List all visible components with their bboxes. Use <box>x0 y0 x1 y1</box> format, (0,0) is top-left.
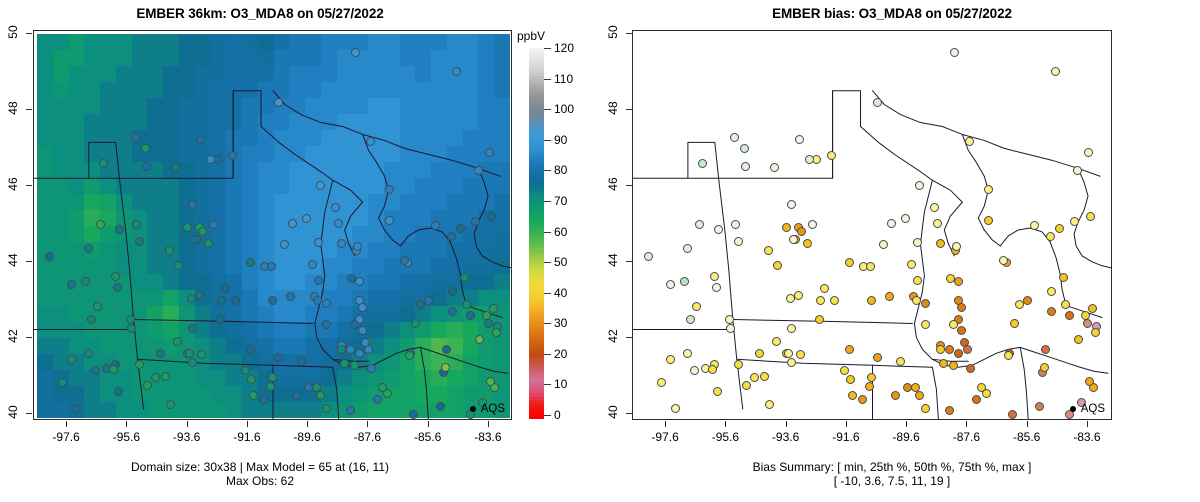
station-marker[interactable] <box>364 345 373 354</box>
station-marker[interactable] <box>249 391 258 400</box>
station-marker[interactable] <box>845 258 854 267</box>
state-boundaries <box>633 31 1111 419</box>
y-tick-label: 40 <box>606 401 620 423</box>
aqs-dot-icon <box>470 406 476 412</box>
panel-title: EMBER 36km: O3_MDA8 on 05/27/2022 <box>0 6 520 21</box>
station-marker[interactable] <box>972 395 981 404</box>
station-marker[interactable] <box>734 237 743 246</box>
station-marker[interactable] <box>787 200 796 209</box>
y-tick <box>626 185 632 186</box>
station-marker[interactable] <box>268 296 277 305</box>
station-marker[interactable] <box>424 296 433 305</box>
station-marker[interactable] <box>373 395 382 404</box>
station-marker[interactable] <box>1030 221 1039 230</box>
y-tick <box>26 33 32 34</box>
colorbar-tick <box>544 293 551 294</box>
y-tick <box>26 109 32 110</box>
station-marker[interactable] <box>867 373 876 382</box>
station-marker[interactable] <box>794 291 803 300</box>
station-marker[interactable] <box>91 366 100 375</box>
station-marker[interactable] <box>416 300 425 309</box>
station-marker[interactable] <box>337 239 346 248</box>
colorbar-gradient <box>529 48 544 415</box>
station-marker[interactable] <box>710 272 719 281</box>
x-tick <box>126 421 127 427</box>
colorbar-tick-label: 70 <box>554 195 567 207</box>
y-tick-label: 46 <box>606 173 620 195</box>
station-marker[interactable] <box>755 349 764 358</box>
station-marker[interactable] <box>313 296 322 305</box>
colorbar-tick-label: 50 <box>554 256 567 268</box>
station-marker[interactable] <box>1074 335 1083 344</box>
station-marker[interactable] <box>666 355 675 364</box>
boundary-line <box>962 134 988 218</box>
station-marker[interactable] <box>815 315 824 324</box>
station-marker[interactable] <box>156 349 165 358</box>
colorbar-tick <box>544 415 551 416</box>
station-marker[interactable] <box>692 302 701 311</box>
station-marker[interactable] <box>346 406 355 415</box>
station-marker[interactable] <box>789 235 798 244</box>
station-marker[interactable] <box>930 203 939 212</box>
station-marker[interactable] <box>901 214 910 223</box>
station-marker[interactable] <box>915 181 924 190</box>
station-marker[interactable] <box>99 159 108 168</box>
station-marker[interactable] <box>816 296 825 305</box>
station-marker[interactable] <box>132 220 141 229</box>
y-tick <box>26 185 32 186</box>
station-marker[interactable] <box>109 365 118 374</box>
x-tick <box>488 421 489 427</box>
station-marker[interactable] <box>1008 410 1017 419</box>
x-tick <box>906 421 907 427</box>
station-marker[interactable] <box>1004 351 1013 360</box>
x-tick-label: -85.6 <box>997 430 1057 444</box>
station-marker[interactable] <box>460 273 469 282</box>
station-marker[interactable] <box>945 406 954 415</box>
station-marker[interactable] <box>448 287 457 296</box>
map-plot-area[interactable]: AQS <box>632 30 1112 420</box>
x-tick-label: -89.6 <box>277 430 337 444</box>
station-marker[interactable] <box>787 324 796 333</box>
y-tick-label: 40 <box>6 401 20 423</box>
boundary-line <box>1020 347 1028 419</box>
station-marker[interactable] <box>114 387 123 396</box>
station-marker[interactable] <box>151 373 160 382</box>
colorbar-tick <box>544 262 551 263</box>
station-marker[interactable] <box>725 315 734 324</box>
x-tick-label: -87.6 <box>337 430 397 444</box>
y-tick-label: 48 <box>6 97 20 119</box>
station-marker[interactable] <box>683 244 692 253</box>
x-tick <box>786 421 787 427</box>
station-marker[interactable] <box>346 345 355 354</box>
station-marker[interactable] <box>933 219 942 228</box>
station-marker[interactable] <box>405 351 414 360</box>
station-marker[interactable] <box>45 252 54 261</box>
station-marker[interactable] <box>950 48 959 57</box>
y-tick <box>626 337 632 338</box>
colorbar-tick-label: 10 <box>554 378 567 390</box>
aqs-dot-icon <box>1070 406 1076 412</box>
station-marker[interactable] <box>786 294 795 303</box>
y-tick-label: 42 <box>606 325 620 347</box>
colorbar-tick-label: 120 <box>554 42 574 54</box>
station-marker[interactable] <box>911 383 920 392</box>
station-marker[interactable] <box>187 294 196 303</box>
station-marker[interactable] <box>246 258 255 267</box>
station-marker[interactable] <box>486 377 495 386</box>
station-marker[interactable] <box>907 260 916 269</box>
colorbar-tick-label: 0 <box>554 409 561 421</box>
colorbar-tick-label: 90 <box>554 134 567 146</box>
station-marker[interactable] <box>197 350 206 359</box>
colorbar-tick <box>544 201 551 202</box>
aqs-legend: AQS <box>1070 403 1105 415</box>
station-marker[interactable] <box>81 277 90 286</box>
station-marker[interactable] <box>1085 377 1094 386</box>
station-marker[interactable] <box>1010 319 1019 328</box>
station-marker[interactable] <box>292 391 301 400</box>
station-marker[interactable] <box>355 349 364 358</box>
station-marker[interactable] <box>760 372 769 381</box>
caption-line-1: Domain size: 30x38 | Max Model = 65 at (… <box>0 460 520 474</box>
x-tick-label: -91.6 <box>217 430 277 444</box>
station-marker[interactable] <box>367 364 376 373</box>
station-marker[interactable] <box>143 381 152 390</box>
x-tick <box>66 421 67 427</box>
station-marker[interactable] <box>952 242 961 251</box>
station-marker[interactable] <box>946 274 955 283</box>
colorbar-tick <box>544 48 551 49</box>
station-marker[interactable] <box>96 220 105 229</box>
station-marker[interactable] <box>93 302 102 311</box>
station-marker[interactable] <box>866 262 875 271</box>
x-tick <box>966 421 967 427</box>
station-marker[interactable] <box>963 345 972 354</box>
station-marker[interactable] <box>87 315 96 324</box>
station-marker[interactable] <box>1023 296 1032 305</box>
map-plot-area[interactable]: AQS <box>33 30 512 420</box>
colorbar-tick <box>544 79 551 80</box>
station-marker[interactable] <box>188 324 197 333</box>
station-marker[interactable] <box>385 185 394 194</box>
station-marker[interactable] <box>447 232 456 241</box>
x-tick-label: -97.6 <box>36 430 96 444</box>
station-marker[interactable] <box>216 315 225 324</box>
station-marker[interactable] <box>858 395 867 404</box>
caption-line-1: Bias Summary: [ min, 25th %, 50th %, 75t… <box>632 460 1152 474</box>
station-marker[interactable] <box>84 244 93 253</box>
station-marker[interactable] <box>730 133 739 142</box>
station-marker[interactable] <box>274 353 283 362</box>
x-tick-label: -89.6 <box>876 430 936 444</box>
station-marker[interactable] <box>698 159 707 168</box>
boundary-line <box>363 134 389 218</box>
y-tick <box>626 33 632 34</box>
ember-ozone-figure: EMBER 36km: O3_MDA8 on 05/27/2022 AQS 40… <box>0 0 1200 502</box>
colorbar-unit-label: ppbV <box>517 29 545 43</box>
station-marker[interactable] <box>358 326 367 335</box>
caption-line-2: [ -10, 3.6, 7.5, 11, 19 ] <box>632 474 1152 488</box>
station-marker[interactable] <box>195 291 204 300</box>
colorbar-tick-label: 60 <box>554 226 567 238</box>
station-marker[interactable] <box>131 133 140 142</box>
station-marker[interactable] <box>353 242 362 251</box>
boundary-line <box>932 367 938 419</box>
x-tick-label: -95.6 <box>695 430 755 444</box>
station-marker[interactable] <box>337 345 346 354</box>
station-marker[interactable] <box>141 144 150 153</box>
boundary-line <box>116 142 144 409</box>
station-marker[interactable] <box>351 48 360 57</box>
station-marker[interactable] <box>286 292 295 301</box>
station-marker[interactable] <box>221 284 230 293</box>
station-marker[interactable] <box>288 219 297 228</box>
station-marker[interactable] <box>188 200 197 209</box>
y-tick <box>26 337 32 338</box>
station-marker[interactable] <box>984 185 993 194</box>
station-marker[interactable] <box>316 181 325 190</box>
station-marker[interactable] <box>945 345 954 354</box>
station-marker[interactable] <box>796 350 805 359</box>
station-marker[interactable] <box>867 296 876 305</box>
station-marker[interactable] <box>355 277 364 286</box>
station-marker[interactable] <box>936 345 945 354</box>
station-marker[interactable] <box>750 373 759 382</box>
boundary-line <box>420 347 428 419</box>
colorbar-tick-label: 100 <box>554 103 574 115</box>
station-marker[interactable] <box>308 260 317 269</box>
x-tick <box>428 421 429 427</box>
station-marker[interactable] <box>680 277 689 286</box>
x-tick <box>665 421 666 427</box>
y-tick <box>626 109 632 110</box>
x-tick <box>725 421 726 427</box>
station-marker[interactable] <box>268 373 277 382</box>
boundary-line <box>273 91 500 177</box>
station-marker[interactable] <box>887 219 896 228</box>
station-marker[interactable] <box>671 404 680 413</box>
station-marker[interactable] <box>1055 224 1064 233</box>
x-tick-label: -97.6 <box>635 430 695 444</box>
station-marker[interactable] <box>190 235 199 244</box>
colorbar-tick-label: 80 <box>554 164 567 176</box>
station-marker[interactable] <box>347 274 356 283</box>
aqs-legend-label: AQS <box>1081 403 1105 415</box>
station-marker[interactable] <box>1084 148 1093 157</box>
station-marker[interactable] <box>409 410 418 419</box>
station-marker[interactable] <box>731 220 740 229</box>
station-marker[interactable] <box>787 358 796 367</box>
station-marker[interactable] <box>848 391 857 400</box>
station-marker[interactable] <box>161 372 170 381</box>
y-tick <box>26 261 32 262</box>
colorbar-tick-label: 110 <box>554 73 573 85</box>
station-marker[interactable] <box>1088 304 1097 313</box>
station-marker[interactable] <box>431 221 440 230</box>
station-marker[interactable] <box>456 224 465 233</box>
colorbar-tick <box>544 109 551 110</box>
boundary-line <box>1020 347 1108 373</box>
y-tick-label: 48 <box>606 97 620 119</box>
station-marker[interactable] <box>267 262 276 271</box>
colorbar-tick <box>544 384 551 385</box>
x-tick <box>187 421 188 427</box>
station-marker[interactable] <box>772 337 781 346</box>
station-marker[interactable] <box>72 404 81 413</box>
station-marker[interactable] <box>331 203 340 212</box>
station-marker[interactable] <box>686 315 695 324</box>
boundary-line <box>715 142 743 409</box>
boundary-line <box>420 347 508 373</box>
station-marker[interactable] <box>865 382 874 391</box>
station-marker[interactable] <box>1059 273 1068 282</box>
station-marker[interactable] <box>1046 232 1055 241</box>
station-marker[interactable] <box>411 319 420 328</box>
station-marker[interactable] <box>954 349 963 358</box>
y-tick <box>26 413 32 414</box>
station-marker[interactable] <box>204 239 213 248</box>
station-marker[interactable] <box>803 239 812 248</box>
y-tick-label: 50 <box>6 21 20 43</box>
station-marker[interactable] <box>954 277 963 286</box>
station-marker[interactable] <box>966 364 975 373</box>
station-marker[interactable] <box>690 366 699 375</box>
station-marker[interactable] <box>1047 287 1056 296</box>
boundary-line <box>333 359 369 361</box>
x-tick-label: -87.6 <box>936 430 996 444</box>
station-marker[interactable] <box>1061 300 1070 309</box>
y-tick-label: 46 <box>6 173 20 195</box>
station-marker[interactable] <box>67 355 76 364</box>
colorbar-segment <box>529 415 544 419</box>
station-marker[interactable] <box>185 349 194 358</box>
station-marker[interactable] <box>708 365 717 374</box>
y-tick <box>626 413 632 414</box>
station-marker[interactable] <box>740 144 749 153</box>
station-marker[interactable] <box>820 284 829 293</box>
station-marker[interactable] <box>1040 363 1049 372</box>
panel-bias: EMBER bias: O3_MDA8 on 05/27/2022 AQS 40… <box>600 0 1200 502</box>
boundary-line <box>333 367 339 419</box>
boundary-line <box>400 228 450 246</box>
station-marker[interactable] <box>713 387 722 396</box>
boundary-line <box>474 168 488 256</box>
panel-title: EMBER bias: O3_MDA8 on 05/27/2022 <box>632 6 1152 21</box>
boundary-line <box>482 256 511 268</box>
x-tick <box>1027 421 1028 427</box>
station-marker[interactable] <box>885 292 894 301</box>
station-marker[interactable] <box>957 326 966 335</box>
station-marker[interactable] <box>921 404 930 413</box>
station-marker[interactable] <box>644 252 653 261</box>
station-marker[interactable] <box>873 353 882 362</box>
station-marker[interactable] <box>936 239 945 248</box>
station-marker[interactable] <box>489 304 498 313</box>
y-tick-label: 44 <box>606 249 620 271</box>
station-marker[interactable] <box>173 337 182 346</box>
x-tick <box>247 421 248 427</box>
x-tick-label: -83.6 <box>458 430 518 444</box>
x-tick-label: -85.6 <box>398 430 458 444</box>
x-tick-label: -95.6 <box>96 430 156 444</box>
x-tick <box>307 421 308 427</box>
station-marker[interactable] <box>770 163 779 172</box>
colorbar-tick-label: 30 <box>554 317 567 329</box>
station-marker[interactable] <box>999 256 1008 265</box>
station-marker[interactable] <box>135 237 144 246</box>
colorbar-tick <box>544 232 551 233</box>
boundary-line <box>861 127 963 203</box>
station-marker[interactable] <box>111 272 120 281</box>
aqs-legend-label: AQS <box>481 403 505 415</box>
y-tick-label: 44 <box>6 249 20 271</box>
colorbar-tick <box>544 140 551 141</box>
x-tick <box>1087 421 1088 427</box>
colorbar-tick <box>544 354 551 355</box>
station-marker[interactable] <box>462 300 471 309</box>
station-marker[interactable] <box>322 404 331 413</box>
x-tick <box>846 421 847 427</box>
station-marker[interactable] <box>312 383 321 392</box>
station-marker[interactable] <box>742 381 751 390</box>
station-marker[interactable] <box>695 220 704 229</box>
station-marker[interactable] <box>475 335 484 344</box>
station-marker[interactable] <box>259 395 268 404</box>
boundary-line <box>872 91 1100 177</box>
station-marker[interactable] <box>912 296 921 305</box>
station-marker[interactable] <box>188 358 197 367</box>
colorbar-tick <box>544 323 551 324</box>
station-marker[interactable] <box>385 216 394 225</box>
station-marker[interactable] <box>400 256 409 265</box>
station-marker[interactable] <box>784 349 793 358</box>
station-marker[interactable] <box>891 391 900 400</box>
aqs-legend: AQS <box>470 403 505 415</box>
boundary-line <box>1074 168 1088 256</box>
y-tick-label: 50 <box>606 21 620 43</box>
boundary-line <box>1082 256 1111 268</box>
colorbar-tick <box>544 170 551 171</box>
station-marker[interactable] <box>485 148 494 157</box>
station-marker[interactable] <box>441 363 450 372</box>
boundary-line <box>1000 228 1050 246</box>
station-marker[interactable] <box>1015 300 1024 309</box>
colorbar-tick-label: 20 <box>554 348 567 360</box>
station-marker[interactable] <box>171 163 180 172</box>
colorbar-tick-label: 40 <box>554 287 567 299</box>
station-marker[interactable] <box>334 219 343 228</box>
station-marker[interactable] <box>217 296 226 305</box>
y-tick <box>626 261 632 262</box>
x-tick-label: -91.6 <box>816 430 876 444</box>
boundary-line <box>261 127 363 203</box>
station-marker[interactable] <box>266 382 275 391</box>
y-tick-label: 42 <box>6 325 20 347</box>
x-tick <box>367 421 368 427</box>
station-marker[interactable] <box>302 214 311 223</box>
x-tick-label: -93.6 <box>157 430 217 444</box>
caption-line-2: Max Obs: 62 <box>0 474 520 488</box>
station-marker[interactable] <box>984 216 993 225</box>
x-tick-label: -83.6 <box>1057 430 1117 444</box>
x-tick-label: -93.6 <box>756 430 816 444</box>
station-marker[interactable] <box>126 315 135 324</box>
panel-model: EMBER 36km: O3_MDA8 on 05/27/2022 AQS 40… <box>0 0 600 502</box>
